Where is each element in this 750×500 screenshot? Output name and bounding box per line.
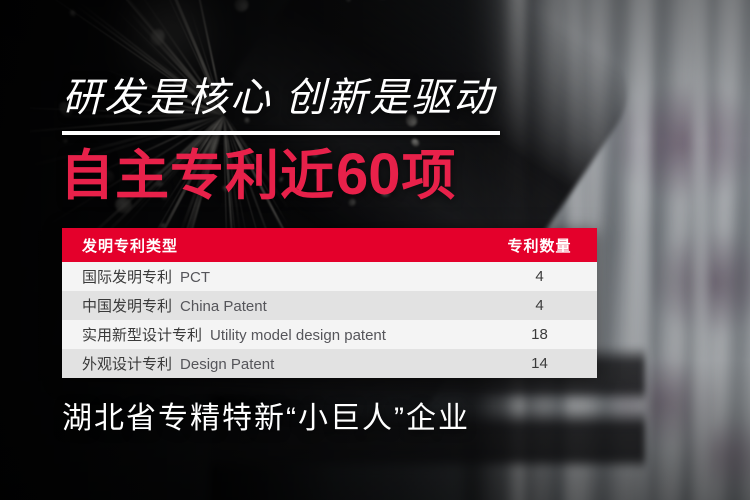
cell-patent-count: 14 bbox=[482, 355, 597, 372]
poster-content: 研发是核心 创新是驱动 自主专利近 60 项 发明专利类型 专利数量 国际发明专… bbox=[0, 0, 750, 500]
cell-patent-type-zh: 中国发明专利 bbox=[82, 295, 172, 316]
table-body: 国际发明专利PCT4中国发明专利China Patent4实用新型设计专利Uti… bbox=[62, 262, 597, 378]
cell-patent-type: 实用新型设计专利Utility model design patent bbox=[62, 324, 482, 345]
table-row: 实用新型设计专利Utility model design patent18 bbox=[62, 320, 597, 349]
cell-patent-type: 中国发明专利China Patent bbox=[62, 295, 482, 316]
cell-patent-type-en: Design Patent bbox=[180, 356, 274, 373]
headline-secondary-number: 60 bbox=[335, 146, 402, 204]
headline-divider-rule bbox=[62, 131, 500, 135]
patent-table: 发明专利类型 专利数量 国际发明专利PCT4中国发明专利China Patent… bbox=[62, 228, 597, 378]
cell-patent-count: 4 bbox=[482, 268, 597, 285]
headline-primary: 研发是核心 创新是驱动 bbox=[62, 78, 495, 118]
table-header-row: 发明专利类型 专利数量 bbox=[62, 228, 597, 262]
headline-secondary-prefix: 自主专利近 bbox=[60, 149, 335, 203]
patent-poster: 研发是核心 创新是驱动 自主专利近 60 项 发明专利类型 专利数量 国际发明专… bbox=[0, 0, 750, 500]
cell-patent-type-en: Utility model design patent bbox=[210, 327, 386, 344]
cell-patent-type-zh: 国际发明专利 bbox=[82, 266, 172, 287]
table-row: 国际发明专利PCT4 bbox=[62, 262, 597, 291]
cell-patent-type: 外观设计专利Design Patent bbox=[62, 353, 482, 374]
table-row: 外观设计专利Design Patent14 bbox=[62, 349, 597, 378]
cell-patent-type: 国际发明专利PCT bbox=[62, 266, 482, 287]
cell-patent-count: 18 bbox=[482, 326, 597, 343]
headline-secondary: 自主专利近 60 项 bbox=[60, 146, 457, 204]
cell-patent-type-zh: 实用新型设计专利 bbox=[82, 324, 202, 345]
table-row: 中国发明专利China Patent4 bbox=[62, 291, 597, 320]
cell-patent-type-en: China Patent bbox=[180, 298, 267, 315]
cell-patent-count: 4 bbox=[482, 297, 597, 314]
column-header-type: 发明专利类型 bbox=[62, 235, 482, 256]
cell-patent-type-en: PCT bbox=[180, 269, 210, 286]
poster-caption: 湖北省专精特新“小巨人”企业 bbox=[62, 404, 470, 434]
headline-secondary-suffix: 项 bbox=[402, 149, 457, 203]
column-header-count: 专利数量 bbox=[482, 235, 597, 256]
cell-patent-type-zh: 外观设计专利 bbox=[82, 353, 172, 374]
